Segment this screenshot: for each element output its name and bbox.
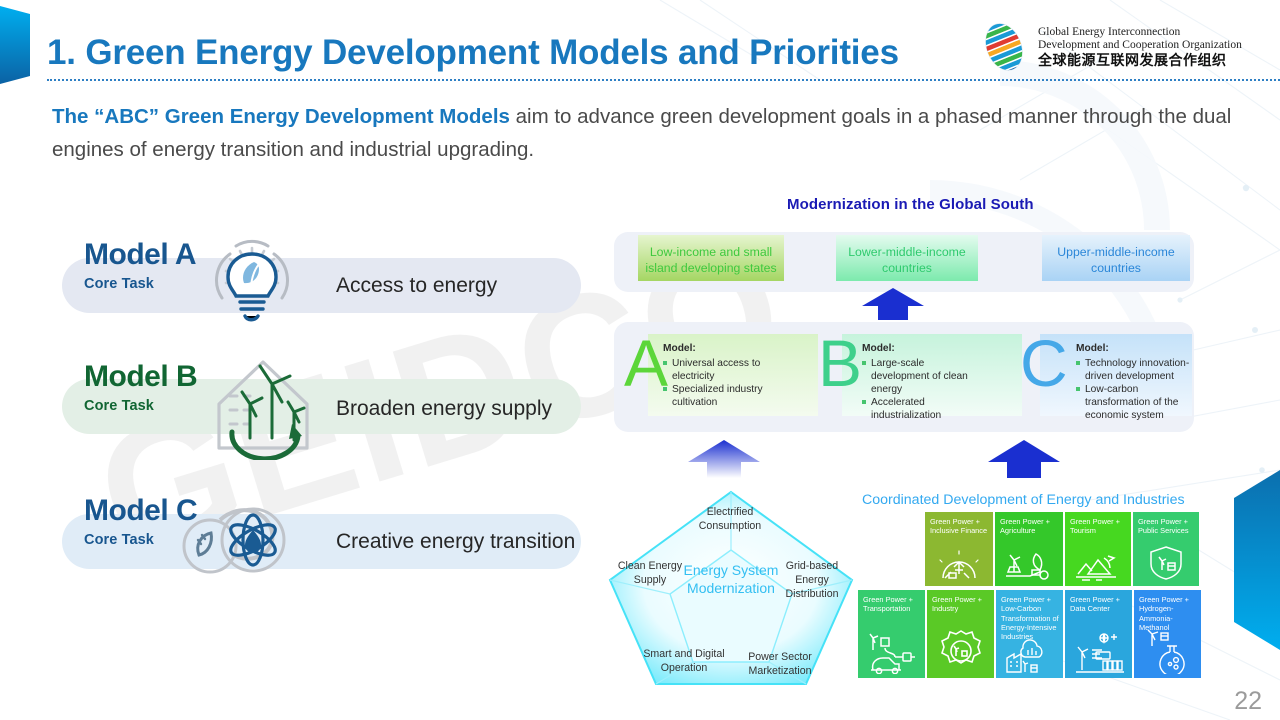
abc-letter-b: B bbox=[818, 330, 862, 396]
pentagon-node-top: Electrified Consumption bbox=[680, 506, 780, 534]
organization-logo: Global Energy Interconnection Developmen… bbox=[978, 20, 1242, 74]
abc-a-point-1: Universal access to electricity bbox=[663, 357, 768, 383]
subtitle-bold: The “ABC” Green Energy Development Model… bbox=[52, 105, 510, 128]
geidco-globe-logo-icon bbox=[978, 20, 1030, 74]
corner-decoration-bottom-right bbox=[1222, 470, 1280, 650]
gear-industry-icon bbox=[927, 628, 994, 674]
model-b-task-text: Broaden energy supply bbox=[336, 397, 552, 421]
abc-b-heading: Model: bbox=[862, 342, 982, 355]
abc-a-heading: Model: bbox=[663, 342, 768, 355]
tile-industry-label: Green Power + Industry bbox=[927, 590, 994, 614]
title-divider bbox=[47, 79, 1280, 81]
atom-leaf-icon bbox=[168, 492, 318, 588]
tile-tourism-label: Green Power + Tourism bbox=[1065, 512, 1131, 536]
income-group-upper-middle: Upper-middle-income countries bbox=[1042, 235, 1190, 281]
abc-c-heading: Model: bbox=[1076, 342, 1194, 355]
abc-b-point-2: Accelerated industrialization bbox=[862, 396, 982, 422]
tile-hydrogen-ammonia-methanol[interactable]: Green Power + Hydrogen-Ammonia-Methanol bbox=[1134, 590, 1201, 678]
model-b-name: Model B bbox=[84, 362, 197, 392]
tile-inclusive-finance-label: Green Power + Inclusive Finance bbox=[925, 512, 993, 536]
energy-system-pentagon: Electrified Consumption Grid-based Energ… bbox=[606, 488, 856, 688]
tile-agriculture-label: Green Power + Agriculture bbox=[995, 512, 1063, 536]
abc-c-point-1: Technology innovation-driven development bbox=[1076, 357, 1194, 383]
lightbulb-leaf-icon bbox=[200, 232, 304, 332]
abc-body-a: Model: Universal access to electricity S… bbox=[663, 342, 768, 409]
tile-inclusive-finance[interactable]: Green Power + Inclusive Finance bbox=[925, 512, 993, 586]
model-a-task-text: Access to energy bbox=[336, 274, 497, 298]
tile-tourism[interactable]: Green Power + Tourism bbox=[1065, 512, 1131, 586]
server-rack-icon bbox=[1065, 632, 1132, 674]
house-wind-turbine-icon bbox=[210, 352, 316, 460]
model-a-label: Model A Core Task bbox=[84, 240, 196, 292]
coordinated-development-title: Coordinated Development of Energy and In… bbox=[862, 492, 1185, 508]
logo-text-line2: Development and Cooperation Organization bbox=[1038, 39, 1242, 52]
page-title: 1. Green Energy Development Models and P… bbox=[47, 33, 899, 73]
ev-car-plug-icon bbox=[858, 632, 925, 674]
income-group-low: Low-income and small island developing s… bbox=[638, 235, 784, 281]
abc-a-point-2: Specialized industry cultivation bbox=[663, 383, 768, 409]
model-a-core-task: Core Task bbox=[84, 276, 196, 292]
tile-public-services[interactable]: Green Power + Public Services bbox=[1133, 512, 1199, 586]
tile-data-center[interactable]: Green Power + Data Center bbox=[1065, 590, 1132, 678]
model-b-label: Model B Core Task bbox=[84, 362, 197, 414]
abc-body-b: Model: Large-scale development of clean … bbox=[862, 342, 982, 422]
tourism-mountain-icon bbox=[1065, 550, 1131, 582]
pentagon-node-bottom-left: Smart and Digital Operation bbox=[642, 648, 726, 676]
agriculture-tractor-icon bbox=[995, 550, 1063, 582]
abc-letter-c: C bbox=[1020, 330, 1068, 396]
modernization-heading: Modernization in the Global South bbox=[787, 196, 1034, 213]
corner-decoration-top-left bbox=[0, 6, 38, 84]
tile-low-carbon-transformation[interactable]: Green Power + Low-Carbon Transformation … bbox=[996, 590, 1063, 678]
model-b-core-task: Core Task bbox=[84, 398, 197, 414]
tile-industry[interactable]: Green Power + Industry bbox=[927, 590, 994, 678]
tile-transportation-label: Green Power + Transportation bbox=[858, 590, 925, 614]
arrow-up-pentagon-to-abc-icon bbox=[688, 440, 760, 478]
tile-data-center-label: Green Power + Data Center bbox=[1065, 590, 1132, 614]
shield-services-icon bbox=[1133, 544, 1199, 582]
tile-transportation[interactable]: Green Power + Transportation bbox=[858, 590, 925, 678]
logo-text-line1: Global Energy Interconnection bbox=[1038, 26, 1242, 39]
finance-yen-solar-icon bbox=[925, 548, 993, 582]
abc-letter-a: A bbox=[624, 330, 668, 396]
factory-cloud-icon bbox=[996, 634, 1063, 674]
tile-public-services-label: Green Power + Public Services bbox=[1133, 512, 1199, 536]
page-number: 22 bbox=[1234, 687, 1262, 716]
abc-body-c: Model: Technology innovation-driven deve… bbox=[1076, 342, 1194, 422]
arrow-up-industries-to-abc-icon bbox=[988, 440, 1060, 478]
abc-c-point-2: Low-carbon transformation of the economi… bbox=[1076, 383, 1194, 422]
arrow-up-to-modernization-icon bbox=[862, 288, 924, 320]
pentagon-center-label: Energy System Modernization bbox=[676, 562, 786, 598]
pentagon-node-bottom-right: Power Sector Marketization bbox=[734, 651, 826, 679]
abc-b-point-1: Large-scale development of clean energy bbox=[862, 357, 982, 396]
tile-hydrogen-label: Green Power + Hydrogen-Ammonia-Methanol bbox=[1134, 590, 1201, 632]
tile-agriculture[interactable]: Green Power + Agriculture bbox=[995, 512, 1063, 586]
income-group-lower-middle: Lower-middle-income countries bbox=[836, 235, 978, 281]
subtitle-paragraph: The “ABC” Green Energy Development Model… bbox=[52, 100, 1242, 166]
model-a-name: Model A bbox=[84, 240, 196, 270]
model-c-task-text: Creative energy transition bbox=[336, 530, 575, 554]
flask-hydrogen-icon bbox=[1134, 630, 1201, 674]
logo-text-chinese: 全球能源互联网发展合作组织 bbox=[1038, 53, 1242, 69]
slide: GEIDCO 1. Green Energy Development Model… bbox=[0, 0, 1280, 720]
